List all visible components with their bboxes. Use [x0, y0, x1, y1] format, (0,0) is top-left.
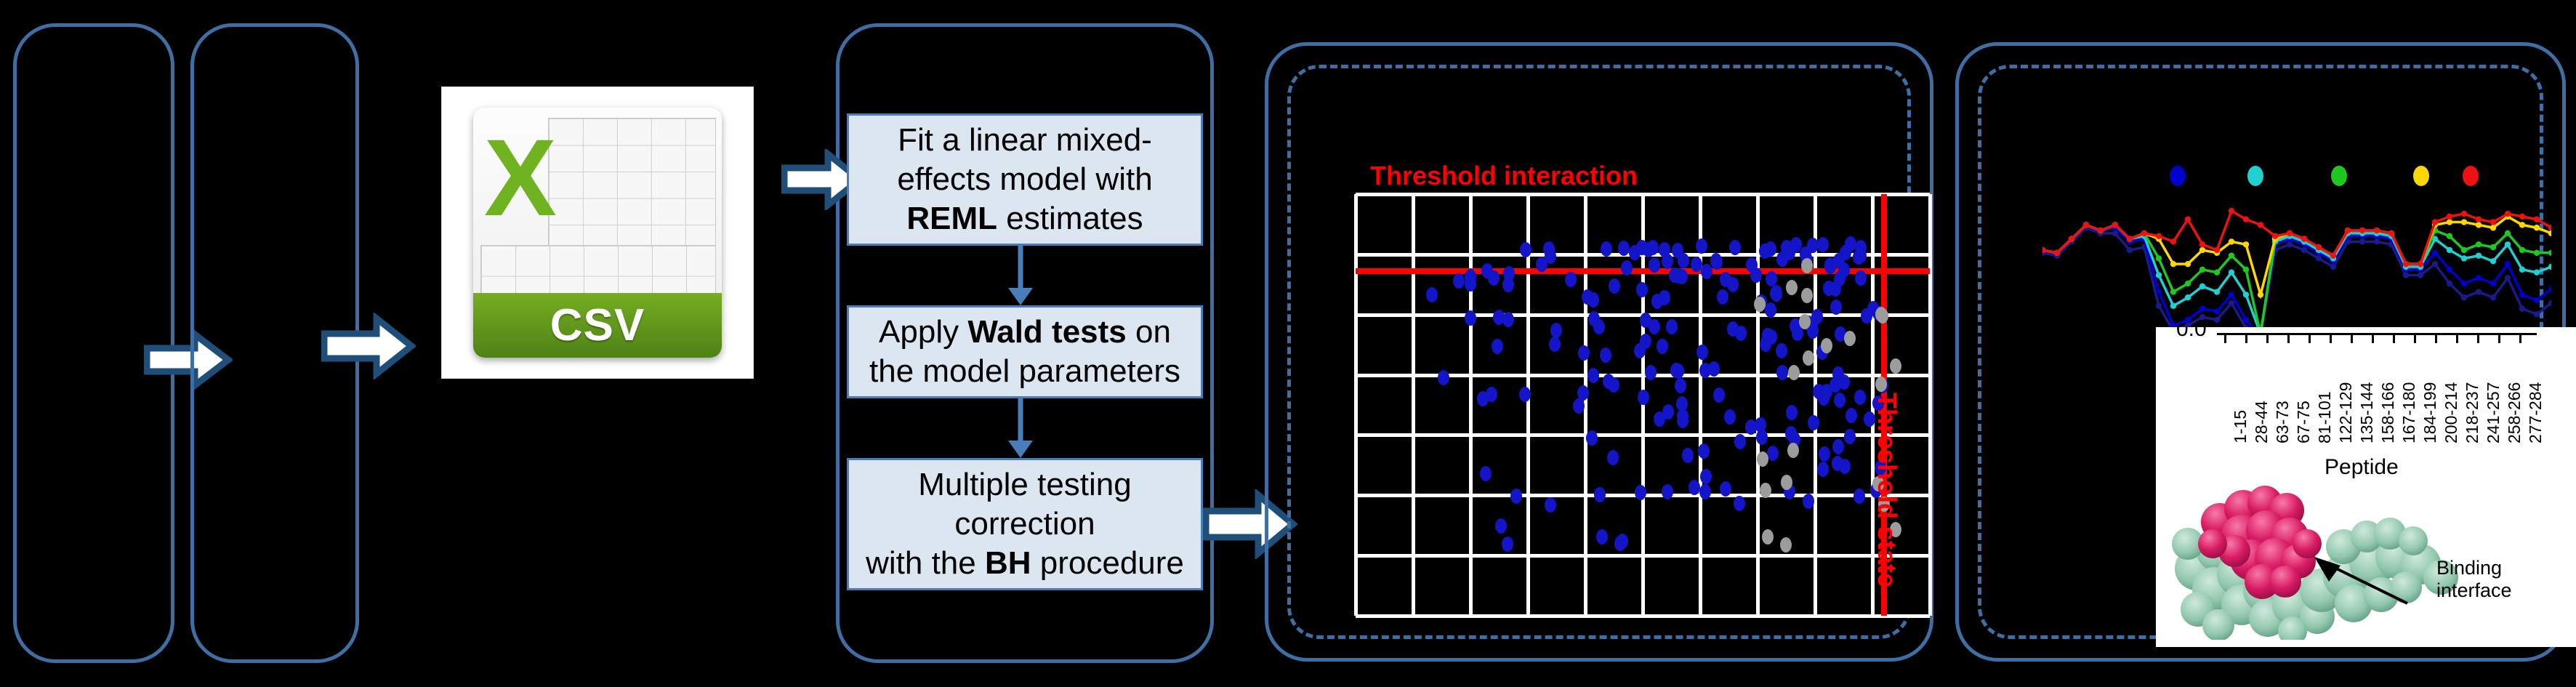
scatter-point: [1700, 469, 1712, 484]
line-series-point: [2519, 222, 2525, 228]
scatter-point: [1875, 307, 1887, 322]
scatter-point: [1666, 319, 1678, 334]
line-series-point: [2054, 250, 2060, 256]
line-series-point: [2272, 233, 2278, 239]
line-series-point: [2185, 217, 2191, 222]
line-series-point: [2432, 250, 2438, 256]
scatter-point: [1607, 450, 1619, 465]
threshold-state-label: Threshold state: [1872, 393, 1902, 587]
y-axis-tick-0: 0.0: [2176, 327, 2207, 342]
line-series-point: [2447, 281, 2452, 286]
line-series-point: [2127, 247, 2133, 253]
scatter-point: [1502, 277, 1514, 292]
scatter-point: [1788, 365, 1800, 380]
scatter-point: [1426, 287, 1438, 302]
x-axis-tick: [2393, 333, 2395, 343]
line-series-point: [2214, 289, 2220, 294]
scatter-point: [1784, 245, 1795, 260]
scatter-point: [1781, 475, 1792, 490]
line-series-point: [2156, 233, 2162, 239]
scatter-point: [1780, 537, 1792, 553]
scatter-point: [1799, 314, 1811, 329]
scatter-point: [1756, 430, 1768, 445]
excel-x-glyph: X: [478, 113, 563, 243]
csv-icon-body: X CSV: [473, 108, 722, 358]
scatter-point: [1654, 411, 1665, 427]
line-series-point: [2243, 241, 2249, 247]
scatter-point: [1853, 489, 1865, 504]
scatter-point: [1762, 529, 1774, 545]
scatter-point: [1657, 339, 1668, 354]
line-series-point: [2214, 308, 2220, 314]
line-series-point: [2534, 311, 2540, 317]
scatter-point: [1762, 328, 1774, 343]
line-series-point: [2505, 241, 2511, 247]
scatter-point: [1453, 273, 1465, 289]
scatter-point: [1754, 297, 1766, 312]
line-series-point: [2214, 269, 2220, 275]
scatter-point: [1801, 288, 1813, 303]
scatter-point: [1875, 377, 1887, 392]
line-series-point: [2199, 284, 2205, 289]
scatter-point: [1635, 485, 1646, 500]
line-series-point: [2476, 275, 2482, 281]
scatter-point: [1776, 365, 1788, 380]
scatter-point: [1696, 345, 1708, 360]
line-series-point: [2258, 222, 2263, 228]
scatter-point: [1811, 309, 1823, 324]
scatter-point: [1757, 451, 1768, 467]
line-series-point: [2476, 289, 2482, 294]
line-series-point: [2083, 222, 2089, 228]
x-axis-tick-label: 277-284: [2526, 382, 2545, 443]
grid-line-vertical: [1354, 194, 1358, 616]
line-series-point: [2490, 225, 2496, 230]
scatter-point: [1438, 370, 1449, 385]
line-series-point: [2185, 281, 2191, 286]
legend-dot-series-3: [2331, 166, 2347, 186]
line-series-point: [2098, 228, 2104, 233]
legend-dot-series-5: [2463, 166, 2479, 186]
line-series-point: [2214, 317, 2220, 323]
grid-line-horizontal: [1356, 554, 1930, 558]
x-axis-tick-label: 258-266: [2505, 382, 2524, 443]
x-axis-tick-label: 1-15: [2231, 410, 2250, 443]
scatter-point: [1659, 242, 1670, 257]
fit-model-box[interactable]: Fit a linear mixed- effects model with R…: [847, 113, 1203, 246]
scatter-point: [1729, 240, 1741, 255]
line-series-point: [2170, 303, 2176, 309]
scatter-point: [1618, 241, 1630, 256]
scatter-point: [1578, 345, 1590, 361]
line-series-point: [2229, 292, 2234, 297]
scatter-point: [1587, 368, 1599, 383]
x-axis-tick: [2456, 333, 2458, 343]
line-series-point: [2243, 267, 2249, 273]
legend-dot-series-4: [2413, 166, 2429, 186]
x-axis-tick-label: 28-44: [2252, 401, 2271, 443]
line-series-point: [2490, 219, 2496, 225]
line-series-point: [2476, 241, 2482, 247]
scatter-point: [1713, 387, 1725, 403]
scatter-point: [1677, 409, 1689, 424]
grid-line-vertical: [1928, 194, 1932, 616]
line-series-point: [2287, 241, 2293, 247]
line-series-point: [2447, 219, 2452, 225]
x-axis-tick: [2498, 333, 2500, 343]
scatter-point: [1832, 439, 1844, 454]
scatter-point: [1844, 429, 1856, 444]
line-series-point: [2330, 252, 2336, 258]
connector-wald-to-bh: [1006, 398, 1035, 458]
line-series-point: [2519, 292, 2525, 297]
grid-line-horizontal: [1356, 193, 1930, 196]
line-series-point: [2534, 250, 2540, 256]
scatter-point: [1549, 337, 1561, 352]
line-series-point: [2156, 303, 2162, 309]
scatter-point: [1819, 446, 1830, 462]
scatter-point: [1698, 443, 1710, 459]
scatter-point: [1834, 393, 1846, 408]
line-series-point: [2447, 247, 2452, 253]
scatter-point: [1708, 361, 1720, 377]
line-series-point: [2170, 261, 2176, 267]
x-axis-tick: [2414, 333, 2416, 343]
line-series-point: [2069, 236, 2074, 241]
line-series-point: [2461, 219, 2467, 225]
x-axis-tick: [2351, 333, 2353, 343]
line-series-point: [2476, 252, 2482, 258]
line-series-point: [2229, 208, 2234, 214]
line-series-point: [2316, 255, 2322, 261]
scatter-point: [1855, 248, 1867, 263]
scatter-point: [1636, 282, 1648, 297]
line-series-point: [2287, 230, 2293, 236]
x-axis-tick-label: 67-75: [2294, 401, 2314, 443]
line-series-point: [2156, 272, 2162, 278]
scatter-point: [1594, 487, 1606, 502]
scatter-point: [1735, 326, 1747, 341]
grid-line-vertical: [1526, 194, 1530, 616]
scatter-point: [1817, 237, 1829, 252]
wald-tests-box[interactable]: Apply Wald tests on the model parameters: [847, 305, 1203, 398]
line-series-point: [2301, 236, 2307, 241]
scatter-point: [1834, 271, 1846, 286]
scatter-point: [1821, 338, 1832, 353]
x-axis-tick-label: 122-129: [2336, 382, 2356, 443]
scatter-point: [1830, 377, 1841, 393]
line-series-point: [2229, 300, 2234, 306]
line-series-point: [2505, 275, 2511, 281]
scatter-point: [1536, 257, 1547, 272]
line-series-point: [2534, 225, 2540, 230]
line-series-point: [2243, 292, 2249, 297]
peptide-line-chart: [2042, 195, 2551, 339]
x-axis-tick-label: 218-237: [2463, 382, 2482, 443]
line-series-point: [2170, 289, 2176, 294]
scatter-point: [1803, 494, 1814, 509]
line-series-point: [2258, 292, 2263, 297]
line-series-point: [2519, 305, 2525, 311]
scatter-point: [1486, 387, 1497, 402]
line-series-point: [2490, 281, 2496, 286]
scatter-point: [1823, 281, 1835, 296]
line-series-point: [2359, 238, 2365, 244]
line-series-point: [2447, 267, 2452, 273]
scatter-point: [1765, 302, 1776, 318]
line-series-point: [2432, 219, 2438, 225]
line-series-point: [2185, 261, 2191, 267]
scatter-point: [1614, 536, 1626, 551]
x-axis-tick: [2372, 333, 2374, 343]
scatter-point: [1586, 430, 1598, 446]
line-series-point: [2330, 264, 2336, 270]
x-axis-tick: [2309, 333, 2311, 343]
multiple-testing-box[interactable]: Multiple testing correction with the BH …: [847, 458, 1203, 590]
line-series-point: [2534, 297, 2540, 303]
scatter-point: [1765, 241, 1776, 257]
line-series-point: [2156, 289, 2162, 294]
scatter-point: [1844, 331, 1856, 346]
fit-model-box-text: Fit a linear mixed- effects model with R…: [897, 121, 1152, 238]
scatter-point: [1675, 378, 1686, 393]
line-series-point: [2388, 230, 2394, 236]
line-series-point: [2490, 244, 2496, 250]
scatter-plot-area: [1356, 194, 1930, 616]
line-series-point: [2301, 247, 2307, 253]
scatter-point: [1734, 496, 1745, 511]
line-series-point: [2199, 305, 2205, 311]
line-series-point: [2229, 238, 2234, 244]
scatter-point: [1495, 518, 1507, 534]
scatter-point: [1890, 358, 1901, 374]
line-series-point: [2243, 317, 2249, 323]
scatter-point: [1767, 446, 1779, 461]
line-series-point: [2170, 238, 2176, 244]
line-series-point: [2374, 228, 2380, 233]
scatter-point: [1582, 289, 1593, 305]
scatter-point: [1465, 269, 1476, 284]
scatter-point: [1701, 264, 1712, 279]
scatter-point: [1682, 448, 1694, 463]
scatter-point: [1608, 377, 1619, 393]
scatter-point: [1600, 347, 1611, 363]
scatter-point: [1854, 390, 1866, 405]
multiple-testing-box-text: Multiple testing correction with the BH …: [866, 465, 1184, 583]
x-axis-tick-label: 167-180: [2399, 382, 2419, 443]
scatter-point: [1465, 310, 1476, 326]
x-axis-tick-label: 63-73: [2273, 401, 2293, 443]
x-axis-tick: [2266, 333, 2269, 343]
line-series-point: [2490, 258, 2496, 264]
scatter-point: [1720, 272, 1731, 287]
grid-line-vertical: [1814, 194, 1817, 616]
scatter-point: [1596, 529, 1608, 545]
scatter-point: [1601, 241, 1612, 257]
line-series-point: [2214, 247, 2220, 253]
line-series-point: [2345, 228, 2351, 233]
peptide-figure-card: 0.0 1-1528-4463-7367-7581-101122-129135-…: [2156, 327, 2576, 647]
line-series-point: [2461, 247, 2467, 253]
scatter-point: [1676, 269, 1688, 284]
binding-interface-label: Binding interface: [2436, 557, 2512, 602]
x-axis-tick-label: 135-144: [2357, 382, 2377, 443]
line-series-point: [2403, 272, 2409, 278]
volcano-scatter-plot: [1356, 194, 1930, 616]
scatter-point: [1771, 286, 1782, 302]
line-series-point: [2199, 247, 2205, 253]
line-series-point: [2548, 250, 2551, 256]
x-axis-tick: [2519, 333, 2521, 343]
csv-label-band: CSV: [473, 293, 722, 358]
x-axis-tick-label: 184-199: [2420, 382, 2440, 443]
scatter-point: [1550, 323, 1562, 338]
grid-line-vertical: [1412, 194, 1415, 616]
scatter-point: [1776, 343, 1787, 358]
x-axis-tick: [2435, 333, 2437, 343]
scatter-point: [1492, 339, 1503, 354]
line-series-point: [2505, 211, 2511, 217]
line-series-point: [2199, 267, 2205, 273]
scatter-point: [1840, 245, 1851, 260]
scatter-point: [1699, 484, 1711, 499]
x-axis-line: [2217, 333, 2537, 335]
line-series-point: [2403, 261, 2409, 267]
scatter-point: [1577, 385, 1589, 401]
scatter-point: [1734, 434, 1746, 449]
x-axis-tick-label: 241-257: [2484, 382, 2503, 443]
line-series-point: [2476, 217, 2482, 222]
x-axis-tick: [2287, 333, 2290, 343]
line-series-point: [2490, 294, 2496, 300]
x-axis-tick: [2245, 333, 2247, 343]
scatter-point: [1801, 258, 1813, 273]
scatter-point: [1717, 289, 1728, 305]
line-series-point: [2476, 222, 2482, 228]
scatter-point: [1609, 278, 1620, 294]
scatter-point: [1519, 387, 1531, 402]
line-series-point: [2185, 294, 2191, 300]
scatter-point: [1803, 350, 1814, 366]
scatter-point: [1830, 300, 1842, 315]
line-series-point: [2519, 247, 2525, 253]
line-series-point: [2316, 244, 2322, 250]
line-series: [2042, 225, 2551, 337]
line-series-point: [2519, 214, 2525, 220]
arrow-stage2-to-stage3: [321, 313, 416, 379]
scatter-point: [1808, 415, 1819, 430]
legend-dot-series-1: [2170, 166, 2186, 186]
scatter-point: [1645, 365, 1657, 380]
line-series-point: [2199, 241, 2205, 247]
scatter-point: [1510, 489, 1522, 504]
line-series-point: [2418, 272, 2423, 278]
line-series-point: [2461, 281, 2467, 286]
scatter-point: [1766, 271, 1777, 286]
scatter-point: [1817, 462, 1829, 477]
grid-line-horizontal: [1356, 614, 1930, 618]
x-axis-title: Peptide: [2325, 455, 2399, 480]
line-series-point: [2534, 217, 2540, 222]
scatter-point: [1520, 242, 1531, 257]
line-series-point: [2505, 261, 2511, 267]
threshold-interaction-label: Threshold interaction: [1370, 161, 1638, 191]
scatter-point: [1787, 443, 1799, 458]
scatter-point: [1855, 270, 1867, 286]
scatter-point: [1638, 390, 1649, 405]
line-series: [2042, 228, 2551, 337]
scatter-point: [1846, 408, 1857, 423]
line-series-point: [2447, 233, 2452, 239]
grid-line-vertical: [1756, 194, 1760, 616]
line-series-point: [2534, 269, 2540, 275]
x-axis-tick: [2224, 333, 2226, 343]
line-series-point: [2461, 294, 2467, 300]
line-series-point: [2243, 217, 2249, 222]
scatter-point: [1545, 497, 1556, 513]
line-series-point: [2461, 211, 2467, 217]
line-series-point: [2141, 230, 2147, 236]
line-series-point: [2127, 236, 2133, 241]
scatter-point: [1649, 319, 1660, 334]
line-series-point: [2447, 214, 2452, 220]
scatter-point: [1502, 537, 1513, 552]
scatter-point: [1786, 280, 1798, 295]
line-series-point: [2229, 269, 2234, 275]
x-axis-tick-label: 200-214: [2442, 382, 2461, 443]
line-series-point: [2185, 317, 2191, 323]
line-series-point: [2156, 255, 2162, 261]
scatter-point: [1711, 254, 1723, 270]
line-series-point: [2418, 261, 2423, 267]
csv-label: CSV: [550, 300, 645, 351]
scatter-point: [1634, 343, 1646, 358]
x-axis-tick: [2477, 333, 2479, 343]
scatter-point: [1659, 290, 1670, 305]
x-axis-tick: [2330, 333, 2332, 343]
wald-tests-box-text: Apply Wald tests on the model parameters: [869, 313, 1180, 391]
scatter-point: [1724, 409, 1736, 425]
x-axis-tick-label: 81-101: [2315, 391, 2335, 443]
scatter-point: [1861, 308, 1872, 324]
scatter-point: [1696, 238, 1707, 254]
scatter-point: [1786, 405, 1798, 420]
scatter-point: [1662, 484, 1673, 499]
flow-diagram-canvas: X CSV Fit a linear mixed- effects model …: [0, 0, 2576, 687]
line-series-point: [2374, 238, 2380, 244]
line-series-point: [2229, 252, 2234, 258]
line-series-point: [2432, 261, 2438, 267]
scatter-point: [1480, 466, 1492, 481]
scatter-point: [1785, 426, 1797, 441]
x-axis-tick-label: 158-166: [2378, 382, 2398, 443]
scatter-point: [1750, 268, 1762, 283]
connector-fit-to-wald: [1006, 246, 1035, 305]
legend-dot-series-2: [2247, 166, 2263, 186]
scatter-point: [1502, 312, 1514, 327]
csv-file-icon: X CSV: [442, 87, 753, 378]
line-series-point: [2359, 228, 2365, 233]
line-series-point: [2112, 222, 2118, 228]
line-series-point: [2505, 230, 2511, 236]
line-series-point: [2199, 314, 2205, 320]
line-series-point: [2461, 255, 2467, 261]
line-series-point: [2519, 267, 2525, 273]
grid-line-vertical: [1469, 194, 1473, 616]
scatter-point: [1565, 272, 1577, 287]
